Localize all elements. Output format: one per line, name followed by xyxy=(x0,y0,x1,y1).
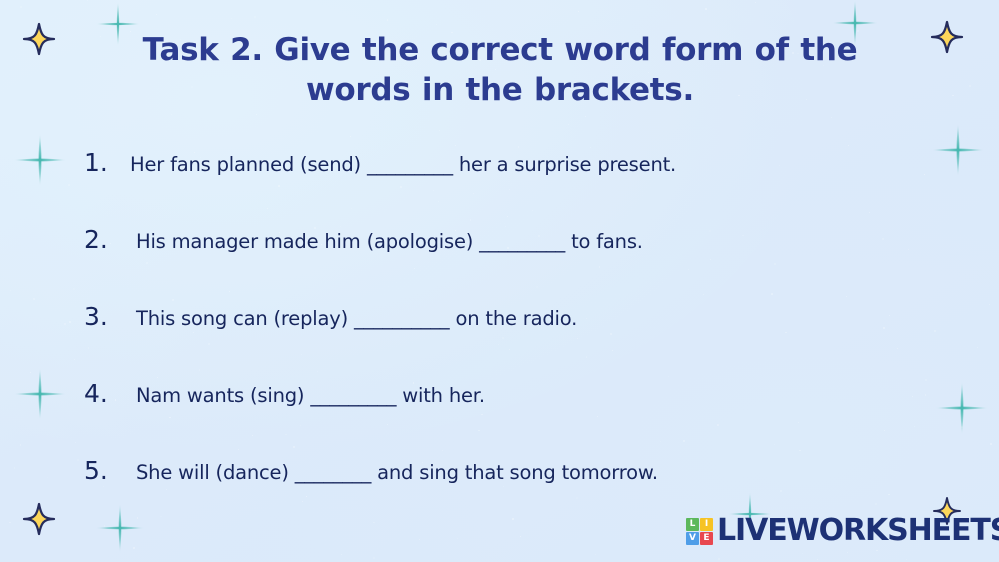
question-number: 2. xyxy=(84,225,130,254)
logo-tile-i: I xyxy=(700,518,713,531)
star-top-left-icon xyxy=(24,24,54,54)
question-text[interactable]: She will (dance) ________ and sing that … xyxy=(130,461,658,484)
logo-tile-l: L xyxy=(686,518,699,531)
questions-list: 1. Her fans planned (send) _________ her… xyxy=(84,148,944,533)
page-title-block: Task 2. Give the correct word form of th… xyxy=(92,30,908,110)
question-text[interactable]: Nam wants (sing) _________ with her. xyxy=(130,384,485,407)
list-item: 2. His manager made him (apologise) ____… xyxy=(84,225,944,302)
logo-wordmark: LIVEWORKSHEETS xyxy=(717,516,999,546)
question-number: 1. xyxy=(84,148,130,177)
logo-tiles-icon: L I V E xyxy=(686,518,713,545)
question-text[interactable]: His manager made him (apologise) _______… xyxy=(130,230,643,253)
list-item: 1. Her fans planned (send) _________ her… xyxy=(84,148,944,225)
list-item: 3. This song can (replay) __________ on … xyxy=(84,302,944,379)
question-number: 3. xyxy=(84,302,130,331)
liveworksheets-logo[interactable]: L I V E LIVEWORKSHEETS xyxy=(686,513,999,549)
question-text[interactable]: This song can (replay) __________ on the… xyxy=(130,307,577,330)
sparkle-left-lower-icon xyxy=(14,368,66,420)
logo-tile-e: E xyxy=(700,532,713,545)
question-number: 5. xyxy=(84,456,130,485)
sparkle-left-upper-icon xyxy=(14,134,66,186)
logo-tile-v: V xyxy=(686,532,699,545)
star-top-right-icon xyxy=(932,22,962,52)
star-bottom-left-icon xyxy=(24,504,54,534)
list-item: 4. Nam wants (sing) _________ with her. xyxy=(84,379,944,456)
question-text[interactable]: Her fans planned (send) _________ her a … xyxy=(130,153,676,176)
page-title: Task 2. Give the correct word form of th… xyxy=(92,30,908,110)
worksheet-canvas: Task 2. Give the correct word form of th… xyxy=(0,0,999,562)
question-number: 4. xyxy=(84,379,130,408)
